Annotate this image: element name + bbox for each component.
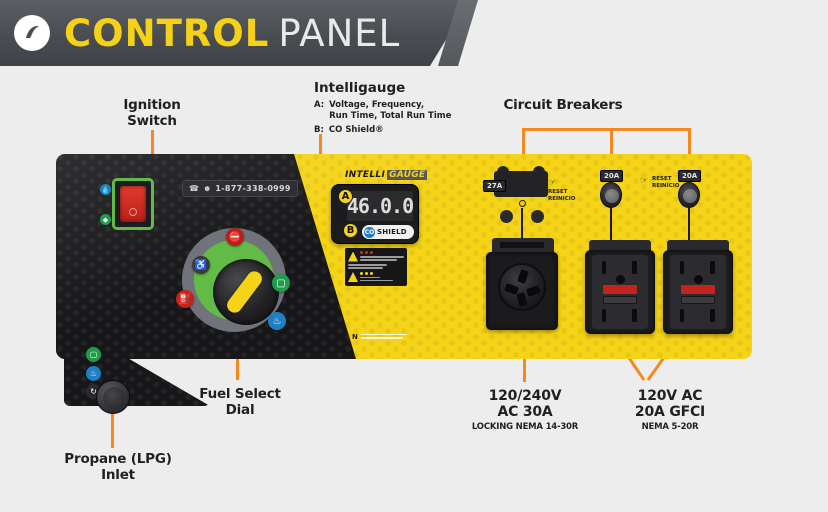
warning-row-1 bbox=[348, 251, 404, 262]
intelligauge-badge-a: A bbox=[338, 189, 353, 204]
intelligauge-brand-word2: GAUGE bbox=[387, 170, 427, 180]
intelligauge-a-line2: Run Time, Total Run Time bbox=[329, 111, 451, 122]
callout-intelligauge: Intelligauge A: Voltage, Frequency, Run … bbox=[314, 80, 484, 135]
twist-lock-face bbox=[498, 263, 546, 311]
breaker-20a-left-stem bbox=[610, 206, 612, 240]
breaker-30a-tab-left[interactable] bbox=[497, 166, 509, 178]
breaker-stem-line bbox=[521, 208, 523, 242]
gfci-left-reset-button[interactable] bbox=[603, 296, 637, 304]
gfci-left-slot-1 bbox=[602, 261, 606, 274]
neutral-bonded-note: N bbox=[352, 333, 407, 341]
intelligauge-brand: INTELLI GAUGE bbox=[345, 170, 427, 180]
propane-inlet-port[interactable] bbox=[96, 380, 130, 414]
breaker-30a-reset-text: RESET REINICIO bbox=[548, 189, 575, 203]
headset-icon: ☻ bbox=[203, 184, 211, 193]
callout-propane-inlet: Propane (LPG) Inlet bbox=[48, 452, 188, 483]
gfci-left-slot-2 bbox=[632, 261, 637, 274]
hand-press-icon: ☞ bbox=[548, 177, 556, 188]
twist-slot-1 bbox=[517, 269, 529, 284]
breaker-20a-right-amp-label: 20A bbox=[678, 170, 701, 182]
warning-row-2 bbox=[348, 272, 404, 283]
breaker-20a-right[interactable] bbox=[678, 182, 700, 208]
gfci-left-face bbox=[592, 255, 648, 329]
callout-intelligauge-title: Intelligauge bbox=[314, 80, 484, 96]
ignition-switch[interactable] bbox=[112, 178, 154, 230]
neutral-note-text bbox=[361, 334, 407, 340]
support-phone-number: 1-877-338-0999 bbox=[215, 184, 290, 193]
badge-logo-icon bbox=[14, 15, 50, 51]
breaker-20a-right-stem bbox=[688, 206, 690, 240]
breaker-20a-left[interactable] bbox=[600, 182, 622, 208]
twist-lock-outlet-flap[interactable] bbox=[492, 238, 554, 252]
twist-slot-3 bbox=[526, 285, 541, 297]
propane-tank-icon-2: ▢ bbox=[86, 347, 101, 362]
page-title: CONTROL PANEL bbox=[64, 10, 400, 56]
flame-icon: ♨ bbox=[268, 312, 286, 330]
warning-text-block-2 bbox=[348, 264, 404, 269]
gfci-right-reset-button[interactable] bbox=[681, 296, 715, 304]
power-circle-icon bbox=[129, 208, 137, 216]
gfci-outlet-left[interactable] bbox=[585, 250, 655, 334]
co-shield-text: SHIELD bbox=[377, 228, 407, 236]
warning-triangle-icon bbox=[348, 252, 358, 262]
callout-outlet-30a: 120/240V AC 30A LOCKING NEMA 14-30R bbox=[455, 388, 595, 433]
gfci-right-face bbox=[670, 255, 726, 329]
callout-ignition-switch: Ignition Switch bbox=[92, 98, 212, 129]
co-shield-mark-icon: CO bbox=[364, 227, 375, 238]
gas-pump-icon: ⛽ bbox=[176, 290, 194, 308]
header: CONTROL PANEL bbox=[0, 0, 828, 66]
intelligauge-badge-b: B bbox=[343, 223, 358, 238]
breaker-screw-right-icon bbox=[531, 210, 544, 223]
support-phone-badge: ☎ ☻ 1-877-338-0999 bbox=[182, 180, 298, 197]
off-icon: ♿ bbox=[192, 256, 210, 274]
intelligauge-brand-word1: INTELLI bbox=[345, 170, 385, 180]
breaker-30a-amp-label: 27A bbox=[483, 180, 506, 192]
flame-icon-2: ♨ bbox=[86, 366, 101, 381]
gfci-right-slot-4 bbox=[710, 309, 715, 322]
breaker-20a-left-button[interactable] bbox=[605, 189, 619, 203]
leader-bracket-breakers-top bbox=[522, 128, 691, 131]
gfci-outlet-right[interactable] bbox=[663, 250, 733, 334]
breaker-screw-left-icon bbox=[500, 210, 513, 223]
gfci-left-test-button[interactable] bbox=[603, 285, 637, 294]
breaker-30a-tab-right[interactable] bbox=[533, 166, 545, 178]
hand-press-icon-2: ☞ bbox=[640, 175, 648, 186]
propane-port-ring bbox=[103, 387, 125, 409]
fuel-can-icon: ◆ bbox=[100, 214, 111, 225]
co-shield-logo: CO SHIELD bbox=[362, 225, 414, 239]
service-dots bbox=[360, 272, 404, 275]
breaker-circle-marker-icon bbox=[519, 200, 526, 207]
intelligauge-a-key: A: bbox=[314, 100, 324, 123]
breaker-20a-right-button[interactable] bbox=[683, 189, 697, 203]
phone-icon: ☎ bbox=[189, 184, 199, 193]
gfci-right-slot-1 bbox=[680, 261, 684, 274]
intelligauge-lcd-value: 46.0.0 bbox=[347, 194, 413, 218]
warning-dots bbox=[360, 251, 404, 254]
twist-slot-4 bbox=[516, 292, 527, 307]
gfci-right-ground-slot bbox=[694, 275, 703, 284]
control-panel-diagram: CONTROL PANEL Ignition Switch Intelligau… bbox=[0, 0, 828, 512]
propane-tank-icon: ▢ bbox=[272, 274, 290, 292]
warning-text-block bbox=[360, 251, 404, 262]
fuel-dial-pointer bbox=[224, 268, 265, 315]
water-drop-icon: 💧 bbox=[100, 184, 111, 195]
warning-label bbox=[345, 248, 407, 286]
ignition-rocker[interactable] bbox=[120, 186, 146, 222]
twist-lock-flap-label bbox=[500, 242, 544, 248]
service-triangle-icon bbox=[348, 272, 358, 282]
page-title-bold: CONTROL bbox=[64, 12, 269, 55]
gfci-left-slot-3 bbox=[602, 309, 606, 322]
gfci-right-slot-3 bbox=[680, 309, 684, 322]
intelligauge-lcd: 46.0.0 bbox=[347, 191, 413, 221]
page-title-light: PANEL bbox=[278, 12, 400, 55]
callout-outlet-gfci: 120V AC 20A GFCI NEMA 5-20R bbox=[600, 388, 740, 433]
fuel-dial-ring bbox=[194, 240, 274, 320]
gfci-left-slot-4 bbox=[632, 309, 637, 322]
intelligauge-b-line1: CO Shield® bbox=[329, 125, 384, 135]
gfci-right-slot-2 bbox=[710, 261, 715, 274]
service-text-block bbox=[360, 272, 404, 283]
intelligauge-a-line1: Voltage, Frequency, bbox=[329, 100, 451, 111]
ground-icon: N bbox=[352, 333, 358, 341]
breaker-20a-reset-text: RESET REINICIO bbox=[652, 176, 679, 190]
no-entry-icon: ⛔ bbox=[226, 228, 244, 246]
breaker-20a-left-amp-label: 20A bbox=[600, 170, 623, 182]
gfci-right-test-button[interactable] bbox=[681, 285, 715, 294]
gfci-left-ground-slot bbox=[616, 275, 625, 284]
intelligauge-display-unit[interactable]: 46.0.0 A B CO SHIELD bbox=[331, 184, 419, 244]
callout-circuit-breakers: Circuit Breakers bbox=[468, 98, 658, 114]
twist-lock-outlet-30a[interactable] bbox=[486, 252, 558, 330]
